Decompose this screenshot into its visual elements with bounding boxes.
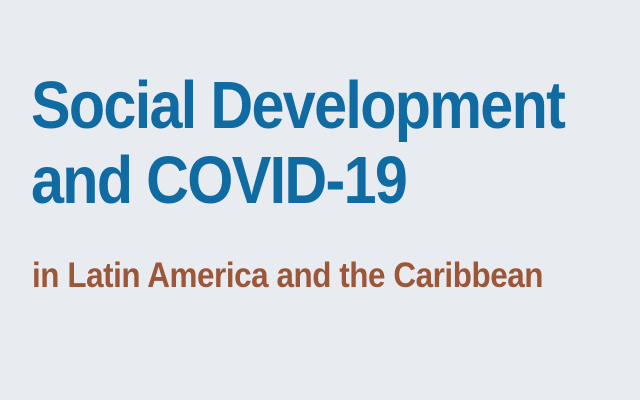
page-title: Social Development and COVID-19 [31, 68, 631, 218]
page-title-line-1: Social Development [31, 68, 562, 143]
page-subtitle: in Latin America and the Caribbean [32, 252, 636, 298]
page-title-line-2: and COVID-19 [31, 143, 562, 218]
title-card: Social Development and COVID-19 in Latin… [0, 0, 640, 400]
page-subtitle-line-1: in Latin America and the Caribbean [32, 252, 567, 298]
